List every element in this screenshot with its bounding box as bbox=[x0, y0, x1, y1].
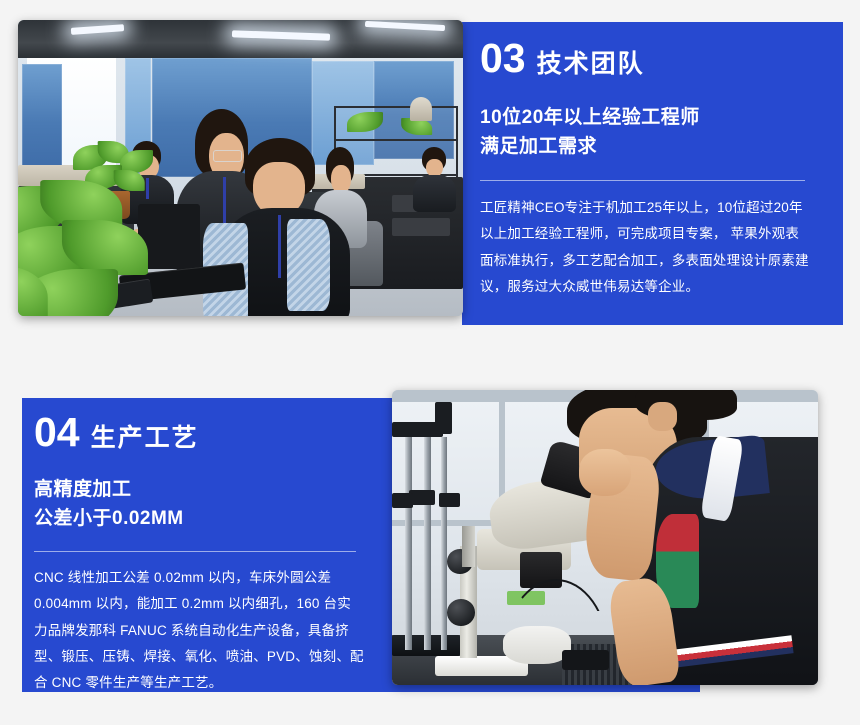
section-04-subtitle-line-2: 公差小于0.02MM bbox=[34, 504, 364, 533]
focus-knob-lower bbox=[447, 599, 475, 626]
section-03-heading: 03 技术团队 bbox=[480, 38, 810, 79]
section-04-title: 生产工艺 bbox=[91, 426, 199, 451]
person-background-far bbox=[410, 147, 459, 212]
stand-rod-1 bbox=[405, 425, 412, 649]
section-03-subtitle-line-1: 10位20年以上经验工程师 bbox=[480, 103, 810, 132]
section-03-title: 技术团队 bbox=[537, 52, 645, 77]
section-03-photo bbox=[18, 20, 463, 316]
office-scene bbox=[18, 20, 463, 316]
marketing-page: 03 技术团队 10位20年以上经验工程师 满足加工需求 工匠精神CEO专注于机… bbox=[0, 0, 860, 725]
section-04-subtitle-line-1: 高精度加工 bbox=[34, 475, 364, 504]
stand-clamp-upper bbox=[435, 402, 452, 434]
operator-ear bbox=[648, 402, 678, 432]
drawer-2 bbox=[392, 218, 450, 236]
window-blind-1 bbox=[22, 64, 62, 171]
section-04-text: 04 生产工艺 高精度加工 公差小于0.02MM CNC 线性加工公差 0.02… bbox=[34, 412, 364, 696]
section-03-body: 工匠精神CEO专注于机加工25年以上，10位超过20年以上加工经验工程师，可完成… bbox=[480, 195, 810, 300]
section-03-divider bbox=[480, 180, 805, 181]
operator-hand-upper bbox=[579, 449, 630, 496]
shelf-vase bbox=[410, 97, 432, 121]
section-04-photo bbox=[392, 390, 818, 685]
microscope-scene bbox=[392, 390, 818, 685]
section-03-text: 03 技术团队 10位20年以上经验工程师 满足加工需求 工匠精神CEO专注于机… bbox=[480, 38, 810, 300]
microscope-arm-vertical bbox=[462, 526, 475, 567]
foreground-plant bbox=[18, 180, 178, 316]
section-03-subtitle-line-2: 满足加工需求 bbox=[480, 132, 810, 161]
section-04-number: 04 bbox=[34, 412, 80, 453]
section-04-body: CNC 线性加工公差 0.02mm 以内，车床外圆公差 0.004mm 以内，能… bbox=[34, 565, 364, 697]
section-03-number: 03 bbox=[480, 38, 526, 79]
operator-wristwatch bbox=[562, 650, 609, 671]
operator-glove-hand bbox=[503, 626, 571, 664]
stand-clamp-mid-2 bbox=[439, 493, 460, 506]
stand-rod-2 bbox=[424, 431, 431, 649]
section-04-divider bbox=[34, 551, 356, 552]
stand-clamp-mid-3 bbox=[392, 493, 413, 508]
section-04-heading: 04 生产工艺 bbox=[34, 412, 364, 453]
stand-rod-3 bbox=[441, 437, 447, 649]
man-shirt-right bbox=[287, 219, 329, 311]
